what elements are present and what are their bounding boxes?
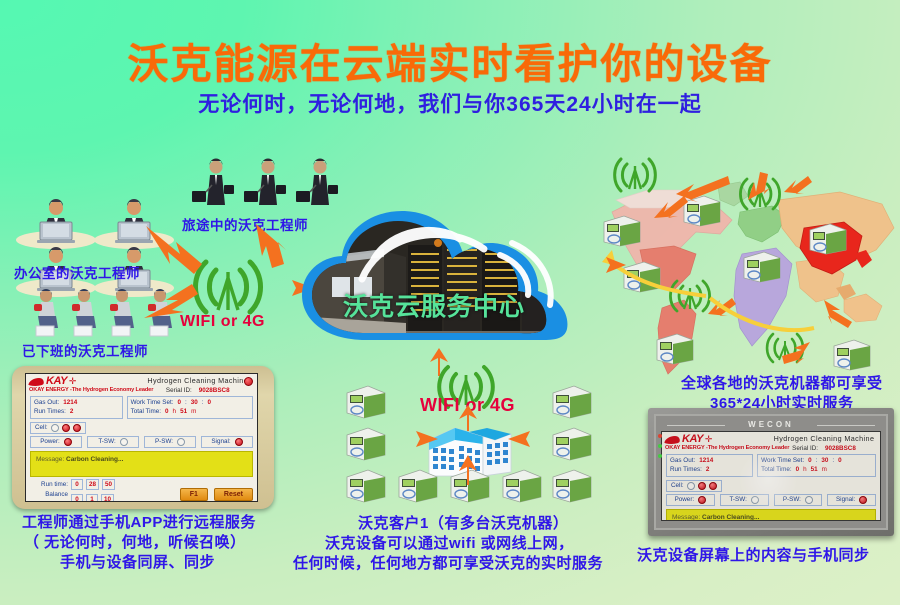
phone-caption-line1: 工程师通过手机APP进行远程服务: [22, 511, 256, 532]
power-label: Power:: [40, 438, 60, 445]
phone-caption-line2: （ 无论何时，何地，听候召唤）: [24, 531, 246, 552]
psw-led: [177, 438, 185, 446]
cell-led-3: [709, 482, 717, 490]
tsw-status[interactable]: T-SW:: [87, 436, 139, 448]
page-title: 沃克能源在云端实时看护你的设备: [0, 30, 900, 90]
serial-label: Serial ID:: [166, 387, 192, 394]
total-time-m-unit: m: [822, 465, 827, 474]
hydrogen-machine-icon: [498, 466, 544, 504]
wecon-hmi-panel: WECON KAY ✛ OKAY ENERGY -The Hydrogen Ec…: [648, 408, 894, 536]
psw-led: [805, 496, 813, 504]
cell-label: Cell:: [671, 482, 684, 489]
work-time-set-m: 30: [191, 398, 198, 407]
power-led: [698, 496, 706, 504]
total-time-h-unit: h: [173, 407, 177, 416]
panel-brand: WECON: [661, 420, 881, 429]
total-time-h-unit: h: [803, 465, 807, 474]
phone-screen[interactable]: KAY ✛ OKAY ENERGY -The Hydrogen Economy …: [25, 373, 258, 502]
signal-label: Signal:: [836, 496, 855, 503]
panel-led-power: [658, 434, 662, 438]
run-time-label: Run time:: [30, 480, 68, 489]
cloud-center-label: 沃克云服务中心: [343, 287, 525, 323]
gas-stats-box: Gas Out: 1214 Run Times: 2: [30, 396, 123, 419]
serial-label: Serial ID:: [792, 445, 818, 452]
machine-title: Hydrogen Cleaning Machine: [142, 376, 255, 385]
work-time-set-s: 0: [838, 456, 842, 465]
work-time-set-s: 0: [208, 398, 212, 407]
signal-status[interactable]: Signal:: [827, 494, 876, 506]
phone-caption-line3: 手机与设备同屏、同步: [60, 551, 215, 572]
power-status[interactable]: Power:: [666, 494, 715, 506]
message-value: Carbon Cleaning...: [66, 456, 123, 463]
arrow-machine-up: [455, 455, 481, 485]
panel-screen[interactable]: KAY ✛ OKAY ENERGY -The Hydrogen Economy …: [661, 431, 881, 521]
hydrogen-machine-icon: [548, 466, 594, 504]
panel-led-comm: [658, 454, 662, 458]
total-time-h: 0: [165, 407, 169, 416]
brand-plus-icon: ✛: [705, 434, 713, 445]
total-time-label: Total Time:: [131, 407, 161, 416]
cloud-icon: [288, 205, 588, 350]
world-arrows: [598, 158, 898, 388]
tsw-led: [120, 438, 128, 446]
time-stats-box: Work Time Set: 0: 30: 0 Total Time: 0 h …: [127, 396, 253, 419]
arrow-machine-to-building: [508, 428, 558, 450]
time-grid: Run time: 0 28 50 Balance time: 0 1 10: [30, 479, 115, 502]
balance-time-label: Balance time:: [30, 490, 68, 502]
work-time-set-h: 0: [178, 398, 182, 407]
run-time-m: 28: [86, 479, 99, 490]
arrow-building-to-tower: [455, 405, 481, 431]
office-engineers-caption: 办公室的沃克工程师: [14, 262, 140, 282]
message-value: Carbon Cleaning...: [702, 514, 759, 521]
hydrogen-machine-icon: [342, 382, 388, 420]
message-label: Message:: [36, 456, 64, 463]
balance-time-h: 0: [71, 494, 83, 502]
arrow-machine-to-building: [390, 428, 440, 450]
cell-led-1: [687, 482, 695, 490]
work-time-set-label: Work Time Set:: [131, 398, 174, 407]
work-time-set-h: 0: [808, 456, 812, 465]
panel-status-leds: [658, 434, 662, 458]
signal-status[interactable]: Signal:: [201, 436, 253, 448]
okay-brand-block: KAY ✛ OKAY ENERGY -The Hydrogen Economy …: [29, 376, 142, 394]
power-status[interactable]: Power:: [30, 436, 82, 448]
message-banner: Message: Carbon Cleaning...: [30, 451, 253, 477]
total-time-m: 51: [180, 407, 187, 416]
brand-plus-icon: ✛: [69, 376, 77, 387]
cell-label: Cell:: [35, 424, 48, 431]
panel-led-run: [658, 444, 662, 448]
gas-out-value: 1214: [699, 456, 713, 465]
tsw-label: T-SW:: [98, 438, 115, 445]
gas-out-label: Gas Out:: [670, 456, 695, 465]
brand-swoosh-icon: [664, 436, 681, 444]
balance-time-s: 10: [101, 494, 114, 502]
serial-value: 9028BSC8: [199, 387, 230, 394]
brand-tagline: OKAY ENERGY -The Hydrogen Economy Leader: [29, 387, 142, 393]
screen-glare: [738, 450, 798, 510]
gas-out-label: Gas Out:: [34, 398, 59, 407]
run-times-value: 2: [70, 407, 74, 416]
brand-name: KAY: [682, 434, 703, 445]
run-time-s: 50: [102, 479, 115, 490]
brand-name: KAY: [46, 376, 67, 387]
poster-canvas: 沃克能源在云端实时看护你的设备 无论何时，无论何地，我们与你365天24小时在一…: [0, 0, 900, 605]
brand-swoosh-icon: [28, 378, 45, 386]
signal-led: [859, 496, 867, 504]
hydrogen-machine-icon: [342, 466, 388, 504]
arrow-cloud-to-world: [588, 252, 628, 278]
cell-led-3: [73, 424, 81, 432]
record-indicator-icon: [244, 377, 253, 386]
cell-status-group: Cell:: [30, 422, 86, 434]
offduty-engineers-caption: 已下班的沃克工程师: [22, 340, 148, 360]
customer-caption-line2: 沃克设备可以通过wifi 或网线上网，: [325, 532, 574, 553]
signal-led: [235, 438, 243, 446]
brand-tagline: OKAY ENERGY -The Hydrogen Economy Leader: [665, 445, 771, 451]
run-times-label: Run Times:: [670, 465, 702, 474]
gas-out-value: 1214: [63, 398, 77, 407]
balance-time-m: 1: [86, 494, 98, 502]
page-subtitle: 无论何时，无论何地，我们与你365天24小时在一起: [0, 88, 900, 118]
customer-caption-line3: 任何时候，任何地方都可享受沃克的实时服务: [293, 552, 603, 573]
hydrogen-machine-icon: [548, 382, 594, 420]
reset-button[interactable]: Reset: [214, 488, 253, 501]
hmi-caption: 沃克设备屏幕上的内容与手机同步: [637, 544, 870, 565]
cell-led-2: [698, 482, 706, 490]
wifi-label-left: WIFI or 4G: [180, 313, 265, 331]
psw-status[interactable]: P-SW:: [144, 436, 196, 448]
power-led: [64, 438, 72, 446]
power-label: Power:: [675, 496, 695, 503]
total-time-m: 51: [811, 465, 818, 474]
serial-value: 9028BSC8: [825, 445, 856, 452]
cell-led-2: [62, 424, 70, 432]
run-time-h: 0: [71, 479, 83, 490]
machine-title: Hydrogen Cleaning Machine: [771, 434, 877, 443]
hydrogen-machine-icon: [342, 424, 388, 462]
hydrogen-machine-icon: [394, 466, 440, 504]
f1-button[interactable]: F1: [180, 488, 208, 501]
work-time-set-m: 30: [821, 456, 828, 465]
world-caption-line1: 全球各地的沃克机器都可享受: [681, 372, 883, 393]
message-label: Message:: [672, 514, 700, 521]
cell-led-1: [51, 424, 59, 432]
total-time-m-unit: m: [191, 407, 196, 416]
signal-label: Signal:: [211, 438, 230, 445]
run-times-label: Run Times:: [34, 407, 66, 416]
run-times-value: 2: [706, 465, 710, 474]
psw-label: P-SW:: [155, 438, 173, 445]
customer-caption-line1: 沃克客户1（有多台沃克机器）: [358, 512, 568, 533]
smartphone-mockup: KAY ✛ OKAY ENERGY -The Hydrogen Economy …: [12, 366, 274, 509]
